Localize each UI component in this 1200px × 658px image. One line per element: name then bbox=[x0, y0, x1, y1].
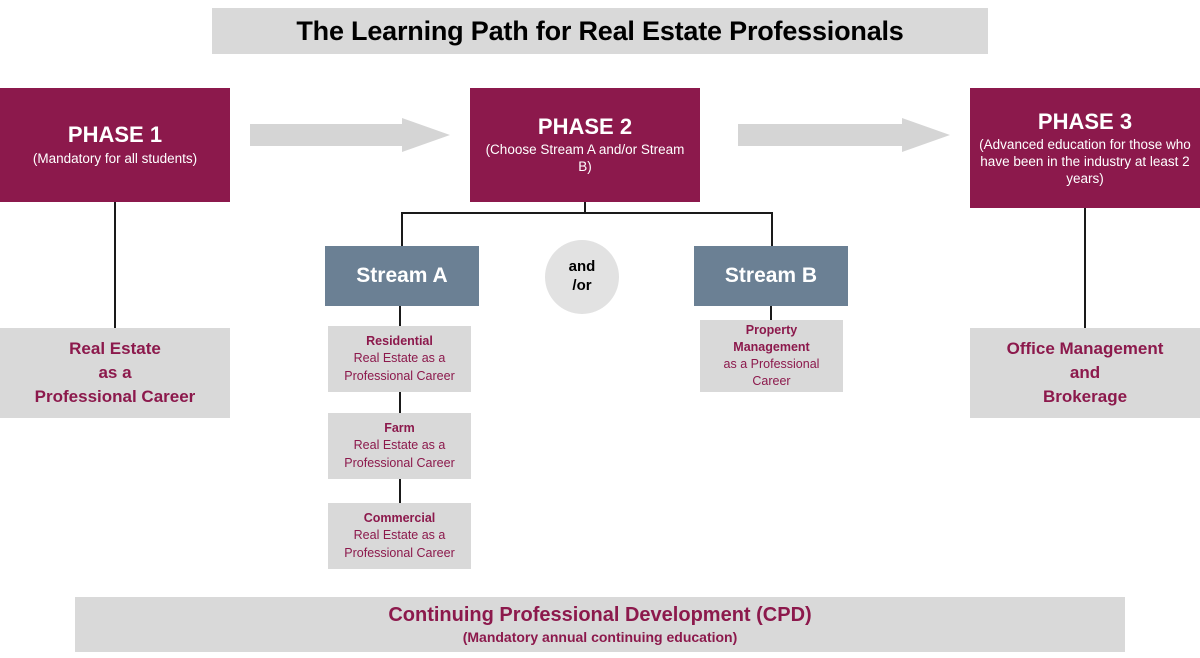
course-commercial-line-2: Professional Career bbox=[344, 545, 454, 562]
course-property-management-line-2: Career bbox=[752, 373, 790, 390]
course-property-management-heading-line-2: Management bbox=[733, 339, 809, 356]
phase-3-box[interactable]: PHASE 3 (Advanced education for those wh… bbox=[970, 88, 1200, 208]
course-commercial-line-1: Real Estate as a bbox=[354, 527, 446, 544]
phase1-outcome-line-3: Professional Career bbox=[35, 385, 196, 409]
page-title: The Learning Path for Real Estate Profes… bbox=[212, 8, 988, 54]
connector-streamb-to-property-management bbox=[770, 306, 772, 320]
phase-2-subtitle: (Choose Stream A and/or Stream B) bbox=[478, 142, 692, 176]
phase-1-subtitle: (Mandatory for all students) bbox=[33, 151, 197, 168]
connector-phase1-to-career bbox=[114, 202, 116, 328]
phase1-outcome-line-1: Real Estate bbox=[69, 337, 161, 361]
course-residential-line-2: Professional Career bbox=[344, 368, 454, 385]
course-property-management-line-1: as a Professional bbox=[724, 356, 820, 373]
diagram-canvas: The Learning Path for Real Estate Profes… bbox=[0, 0, 1200, 658]
right-block-arrow-icon-1 bbox=[250, 118, 450, 152]
phase3-outcome-box[interactable]: Office Management and Brokerage bbox=[970, 328, 1200, 418]
course-property-management-heading-line-1: Property bbox=[746, 322, 797, 339]
right-block-arrow-icon-2 bbox=[738, 118, 950, 152]
phase3-outcome-line-3: Brokerage bbox=[1043, 385, 1127, 409]
cpd-footer-bar: Continuing Professional Development (CPD… bbox=[75, 597, 1125, 652]
phase3-outcome-line-1: Office Management bbox=[1007, 337, 1164, 361]
course-farm-line-2: Professional Career bbox=[344, 455, 454, 472]
phase-2-box[interactable]: PHASE 2 (Choose Stream A and/or Stream B… bbox=[470, 88, 700, 202]
phase-1-box[interactable]: PHASE 1 (Mandatory for all students) bbox=[0, 88, 230, 202]
course-residential-line-1: Real Estate as a bbox=[354, 350, 446, 367]
phase3-outcome-line-2: and bbox=[1070, 361, 1100, 385]
cpd-title: Continuing Professional Development (CPD… bbox=[388, 603, 811, 627]
connector-to-stream-b bbox=[771, 212, 773, 246]
phase1-outcome-line-2: as a bbox=[98, 361, 131, 385]
phase-3-title: PHASE 3 bbox=[1038, 109, 1132, 134]
stream-a-label: Stream A bbox=[356, 264, 447, 288]
phase-1-title: PHASE 1 bbox=[68, 122, 162, 147]
course-box-property-management[interactable]: Property Management as a Professional Ca… bbox=[700, 320, 843, 392]
and-or-line-1: and bbox=[569, 258, 596, 277]
connector-phase2-crossbar bbox=[401, 212, 773, 214]
phase-3-subtitle: (Advanced education for those who have b… bbox=[978, 137, 1192, 188]
cpd-subtitle: (Mandatory annual continuing education) bbox=[463, 629, 738, 646]
course-box-residential[interactable]: Residential Real Estate as a Professiona… bbox=[328, 326, 471, 392]
course-box-commercial[interactable]: Commercial Real Estate as a Professional… bbox=[328, 503, 471, 569]
and-or-line-2: /or bbox=[572, 277, 591, 296]
phase1-outcome-box[interactable]: Real Estate as a Professional Career bbox=[0, 328, 230, 418]
stream-b-label: Stream B bbox=[725, 264, 817, 288]
course-farm-line-1: Real Estate as a bbox=[354, 437, 446, 454]
connector-phase3-to-office bbox=[1084, 208, 1086, 328]
connector-farm-to-commercial bbox=[399, 479, 401, 503]
course-box-farm[interactable]: Farm Real Estate as a Professional Caree… bbox=[328, 413, 471, 479]
phase-2-title: PHASE 2 bbox=[538, 114, 632, 139]
connector-residential-to-farm bbox=[399, 392, 401, 413]
connector-to-stream-a bbox=[401, 212, 403, 246]
course-farm-heading: Farm bbox=[384, 420, 415, 437]
and-or-connector-badge: and /or bbox=[545, 240, 619, 314]
course-residential-heading: Residential bbox=[366, 333, 433, 350]
connector-streama-to-residential bbox=[399, 306, 401, 326]
stream-a-box[interactable]: Stream A bbox=[325, 246, 479, 306]
stream-b-box[interactable]: Stream B bbox=[694, 246, 848, 306]
course-commercial-heading: Commercial bbox=[364, 510, 436, 527]
